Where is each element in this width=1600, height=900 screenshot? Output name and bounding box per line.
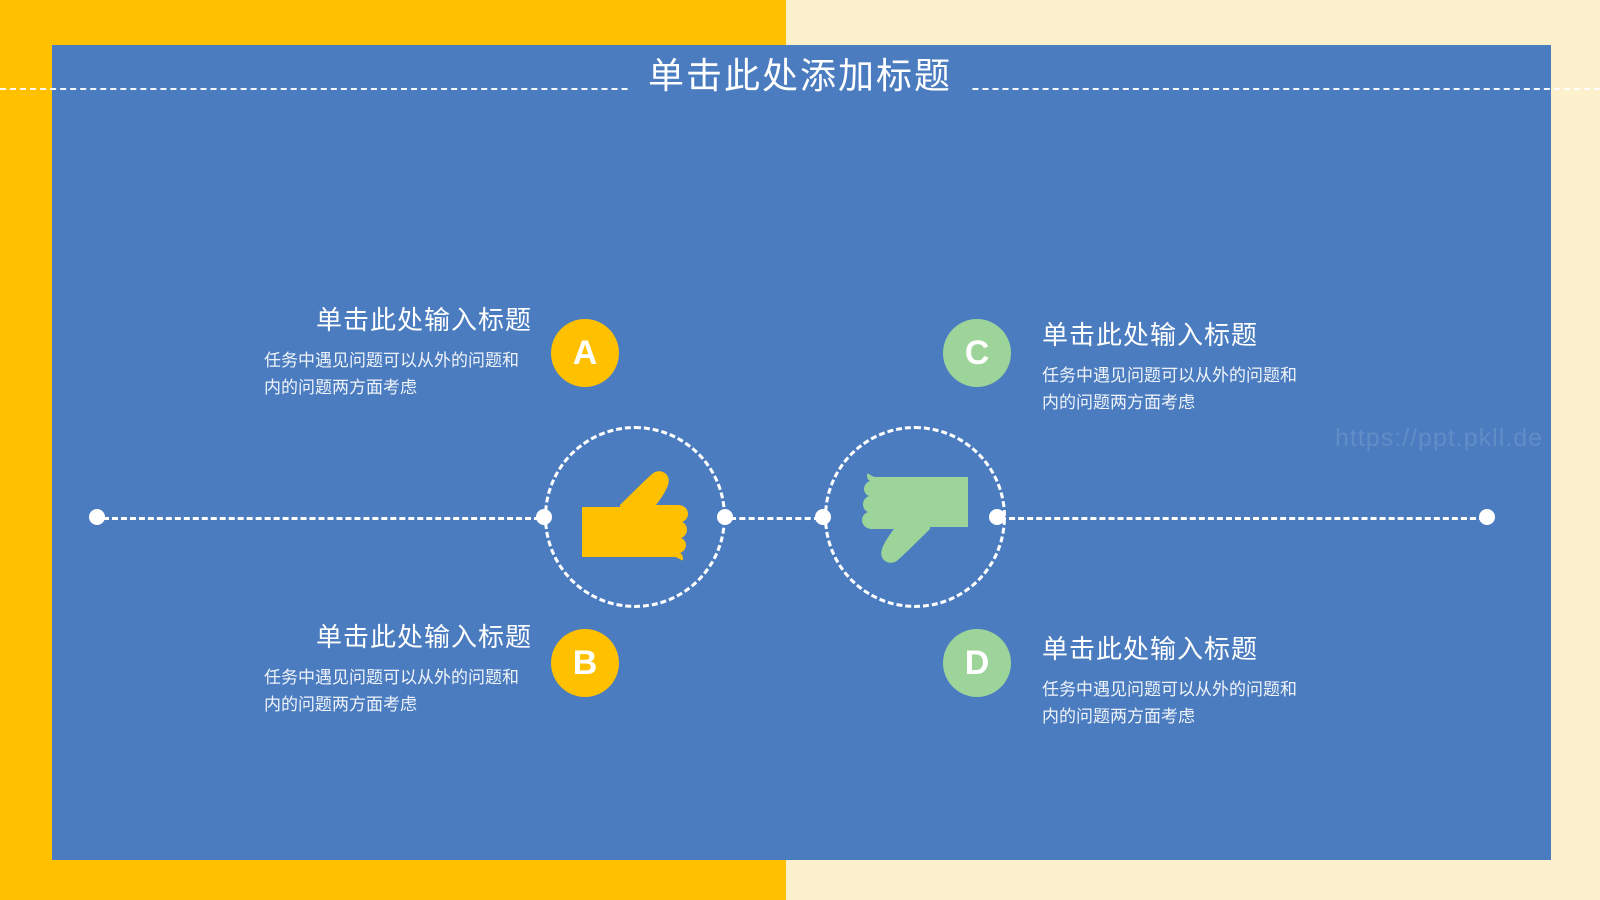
item-block-b[interactable]: 单击此处输入标题 任务中遇见问题可以从外的问题和内的问题两方面考虑	[132, 622, 532, 718]
timeline-segment-middle	[730, 517, 820, 520]
content-panel	[52, 45, 1551, 860]
page-title: 单击此处添加标题	[0, 58, 1600, 94]
slide-canvas: 单击此处添加标题 A B C	[0, 0, 1600, 900]
item-a-body: 任务中遇见问题可以从外的问题和内的问题两方面考虑	[264, 348, 532, 401]
badge-d-label: D	[965, 646, 990, 680]
item-c-title: 单击此处输入标题	[1042, 320, 1442, 351]
thumbs-up-icon	[544, 426, 726, 608]
badge-a-label: A	[573, 336, 598, 370]
timeline-node-dot	[1479, 509, 1495, 525]
item-block-a[interactable]: 单击此处输入标题 任务中遇见问题可以从外的问题和内的问题两方面考虑	[132, 305, 532, 401]
item-b-body: 任务中遇见问题可以从外的问题和内的问题两方面考虑	[264, 665, 532, 718]
item-d-title: 单击此处输入标题	[1042, 634, 1442, 665]
item-a-title: 单击此处输入标题	[132, 305, 532, 336]
badge-c-label: C	[965, 336, 990, 370]
page-title-text: 单击此处添加标题	[630, 58, 970, 94]
item-c-body: 任务中遇见问题可以从外的问题和内的问题两方面考虑	[1042, 363, 1310, 416]
timeline-node-dot	[89, 509, 105, 525]
timeline-segment-right	[1000, 517, 1485, 520]
badge-d[interactable]: D	[943, 629, 1011, 697]
badge-c[interactable]: C	[943, 319, 1011, 387]
watermark-text: https://ppt.pkll.de	[1335, 424, 1543, 453]
item-b-title: 单击此处输入标题	[132, 622, 532, 653]
item-block-d[interactable]: 单击此处输入标题 任务中遇见问题可以从外的问题和内的问题两方面考虑	[1042, 634, 1442, 730]
item-block-c[interactable]: 单击此处输入标题 任务中遇见问题可以从外的问题和内的问题两方面考虑	[1042, 320, 1442, 416]
item-d-body: 任务中遇见问题可以从外的问题和内的问题两方面考虑	[1042, 677, 1310, 730]
thumbs-down-icon	[824, 426, 1006, 608]
timeline-segment-left	[103, 517, 540, 520]
badge-b-label: B	[573, 646, 598, 680]
badge-a[interactable]: A	[551, 319, 619, 387]
badge-b[interactable]: B	[551, 629, 619, 697]
